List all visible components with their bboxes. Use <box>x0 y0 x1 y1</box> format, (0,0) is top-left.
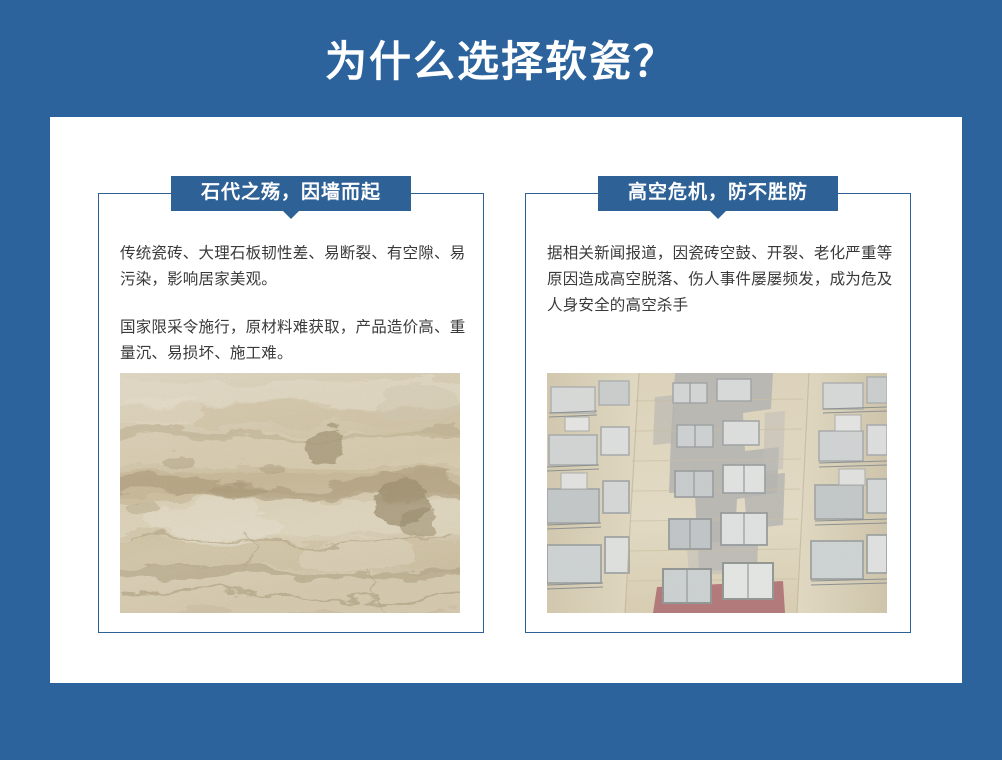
high-rise-fallen-tiles-photo <box>547 373 887 613</box>
stone-texture-illustration <box>120 373 460 613</box>
panel-paragraph: 国家限采令施行，原材料难获取，产品造价高、重量沉、易损坏、施工难。 <box>120 315 468 367</box>
panel-stone-problems: 石代之殇，因墙而起 传统瓷砖、大理石板韧性差、易断裂、有空隙、易污染，影响居家美… <box>98 193 484 633</box>
page-title: 为什么选择软瓷？ <box>0 36 1002 88</box>
building-facade-illustration <box>547 373 887 613</box>
panel-falling-tiles-risk: 高空危机，防不胜防 据相关新闻报道，因瓷砖空鼓、开裂、老化严重等原因造成高空脱落… <box>525 193 911 633</box>
panel-paragraph: 传统瓷砖、大理石板韧性差、易断裂、有空隙、易污染，影响居家美观。 <box>120 241 468 293</box>
panel-body-right: 据相关新闻报道，因瓷砖空鼓、开裂、老化严重等原因造成高空脱落、伤人事件屡屡频发，… <box>547 241 895 319</box>
content-card: 石代之殇，因墙而起 传统瓷砖、大理石板韧性差、易断裂、有空隙、易污染，影响居家美… <box>50 117 962 683</box>
panel-paragraph: 据相关新闻报道，因瓷砖空鼓、开裂、老化严重等原因造成高空脱落、伤人事件屡屡频发，… <box>547 241 895 319</box>
panel-body-left: 传统瓷砖、大理石板韧性差、易断裂、有空隙、易污染，影响居家美观。 国家限采令施行… <box>120 241 468 367</box>
panel-badge-right: 高空危机，防不胜防 <box>598 176 838 211</box>
panel-badge-left: 石代之殇，因墙而起 <box>171 176 411 211</box>
cracked-stone-wall-photo <box>120 373 460 613</box>
